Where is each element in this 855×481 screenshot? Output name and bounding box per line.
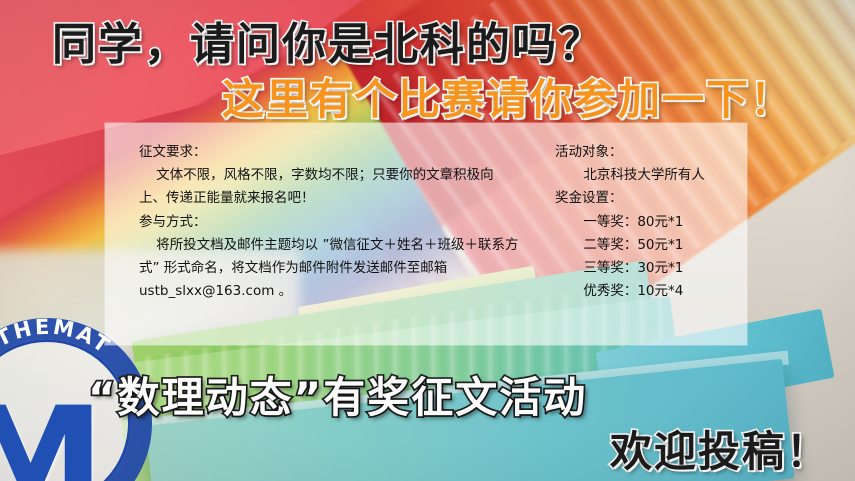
headline-line-2: 这里有个比赛请你参加一下！ (222, 66, 794, 127)
prize-settings-heading: 奖金设置： (555, 187, 741, 210)
info-panel-right-column: 活动对象： 北京科技大学所有人 奖金设置： 一等奖：80元*1 二等奖：50元*… (527, 123, 747, 345)
prize-second: 二等奖：50元*1 (555, 234, 741, 257)
logo-monogram: M (0, 388, 95, 481)
footer-line-2: 欢迎投稿！ (610, 418, 830, 479)
prize-merit: 优秀奖：10元*4 (555, 280, 741, 303)
participation-method-body: 将所投文档及邮件主题均以 ”微信征文＋姓名＋班级＋联系方式” 形式命名，将文档作… (139, 234, 519, 304)
essay-requirements-heading: 征文要求： (139, 141, 519, 164)
prize-first: 一等奖：80元*1 (555, 211, 741, 234)
audience-heading: 活动对象： (555, 141, 741, 164)
audience-body: 北京科技大学所有人 (555, 164, 741, 187)
headline-line-1: 同学，请问你是北科的吗？ (52, 8, 604, 72)
info-panel-columns: 征文要求： 文体不限，风格不限，字数均不限；只要你的文章积极向上、传递正能量就来… (105, 123, 747, 345)
prize-third: 三等奖：30元*1 (555, 257, 741, 280)
participation-method-heading: 参与方式： (139, 211, 519, 234)
essay-requirements-body: 文体不限，风格不限，字数均不限；只要你的文章积极向上、传递正能量就来报名吧！ (139, 164, 519, 210)
poster-canvas: MATHEMAT AND P M 同学，请问你是北科的吗？ 这里有个比赛请你参加… (0, 0, 855, 481)
info-panel: 征文要求： 文体不限，风格不限，字数均不限；只要你的文章积极向上、传递正能量就来… (105, 123, 747, 345)
footer-line-1: “数理动态”有奖征文活动 (88, 364, 587, 425)
info-panel-left-column: 征文要求： 文体不限，风格不限，字数均不限；只要你的文章积极向上、传递正能量就来… (105, 123, 527, 345)
